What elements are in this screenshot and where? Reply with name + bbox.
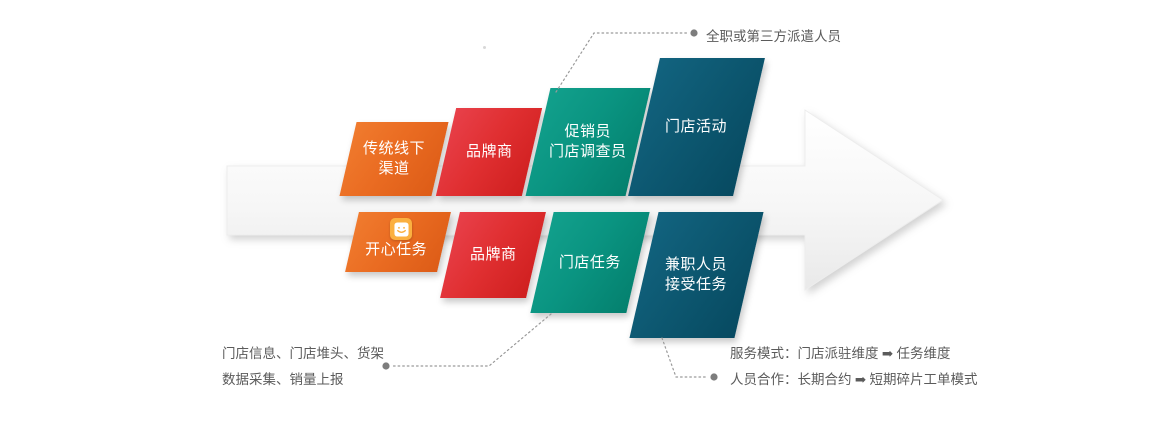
- annotation-bottom-right: 服务模式：门店派驻维度 ➡ 任务维度 人员合作：长期合约 ➡ 短期碎片工单模式: [730, 341, 978, 394]
- connector-top-dot: [690, 29, 697, 36]
- diagram-canvas: 传统线下 渠道 品牌商 促销员 门店调查员 门店活动 开心任务 品牌商 门店任务…: [0, 0, 1150, 430]
- connector-bottom-right: [662, 338, 708, 377]
- block-label: 兼职人员 接受任务: [665, 255, 727, 295]
- block-label: 门店活动: [665, 117, 727, 137]
- block-brand-owner-bottom[interactable]: 品牌商: [440, 212, 546, 298]
- decorative-speck: [483, 46, 486, 49]
- annotation-bottom-left: 门店信息、门店堆头、货架 数据采集、销量上报: [222, 341, 384, 394]
- block-label: 品牌商: [466, 142, 513, 162]
- block-label: 促销员 门店调查员: [549, 122, 627, 162]
- annotation-top-right: 全职或第三方派遣人员: [706, 24, 841, 50]
- connector-bottom-right-dot: [710, 373, 717, 380]
- block-label: 品牌商: [470, 245, 517, 265]
- block-label: 开心任务: [365, 240, 427, 260]
- connector-bottom-left: [392, 314, 551, 366]
- block-kaixin-task[interactable]: 开心任务: [345, 212, 451, 272]
- smiley-icon: [390, 218, 412, 240]
- block-traditional-channel[interactable]: 传统线下 渠道: [339, 122, 448, 196]
- block-label: 传统线下 渠道: [363, 139, 425, 179]
- block-label: 门店任务: [559, 253, 621, 273]
